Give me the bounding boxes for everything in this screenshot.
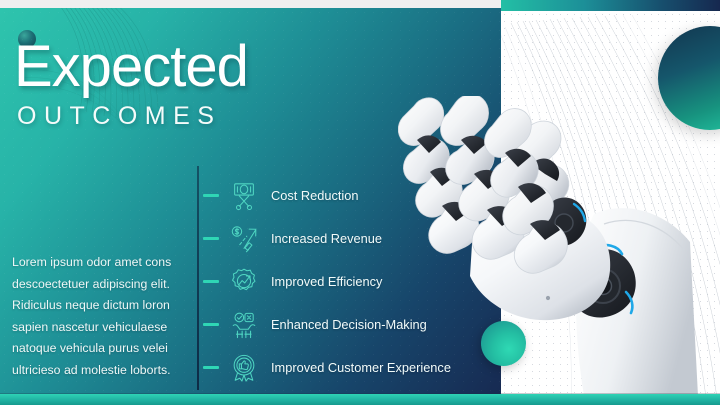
- list-item[interactable]: Enhanced Decision-Making: [203, 303, 503, 346]
- bottom-teal-strip: [0, 394, 720, 405]
- list-item-label: Improved Customer Experience: [271, 360, 451, 375]
- teal-sphere: [481, 321, 526, 366]
- list-item[interactable]: Improved Customer Experience: [203, 346, 503, 389]
- outcomes-list: Cost Reduction Increased Revenue: [203, 174, 503, 389]
- gear-chart-icon: [227, 265, 261, 299]
- award-thumbsup-icon: [227, 351, 261, 385]
- list-item[interactable]: Cost Reduction: [203, 174, 503, 217]
- dash-marker: [203, 194, 219, 197]
- dash-marker: [203, 280, 219, 283]
- list-item-label: Improved Efficiency: [271, 274, 382, 289]
- dash-marker: [203, 237, 219, 240]
- dollar-growth-arrow-icon: [227, 222, 261, 256]
- list-item[interactable]: Increased Revenue: [203, 217, 503, 260]
- money-scissors-icon: [227, 179, 261, 213]
- list-item[interactable]: Improved Efficiency: [203, 260, 503, 303]
- slide-expected-outcomes: Expected OUTCOMES Lorem ipsum odor amet …: [0, 0, 720, 405]
- dash-marker: [203, 323, 219, 326]
- dash-marker: [203, 366, 219, 369]
- top-right-gradient-strip: [501, 0, 720, 11]
- list-item-label: Increased Revenue: [271, 231, 382, 246]
- body-paragraph: Lorem ipsum odor amet cons descoectetuer…: [12, 252, 188, 381]
- top-left-strip: [0, 0, 501, 8]
- timeline-vertical-line: [197, 166, 199, 390]
- hands-choice-icon: [227, 308, 261, 342]
- list-item-label: Cost Reduction: [271, 188, 359, 203]
- list-item-label: Enhanced Decision-Making: [271, 317, 427, 332]
- page-title: Expected: [14, 38, 248, 96]
- page-subtitle: OUTCOMES: [17, 104, 221, 129]
